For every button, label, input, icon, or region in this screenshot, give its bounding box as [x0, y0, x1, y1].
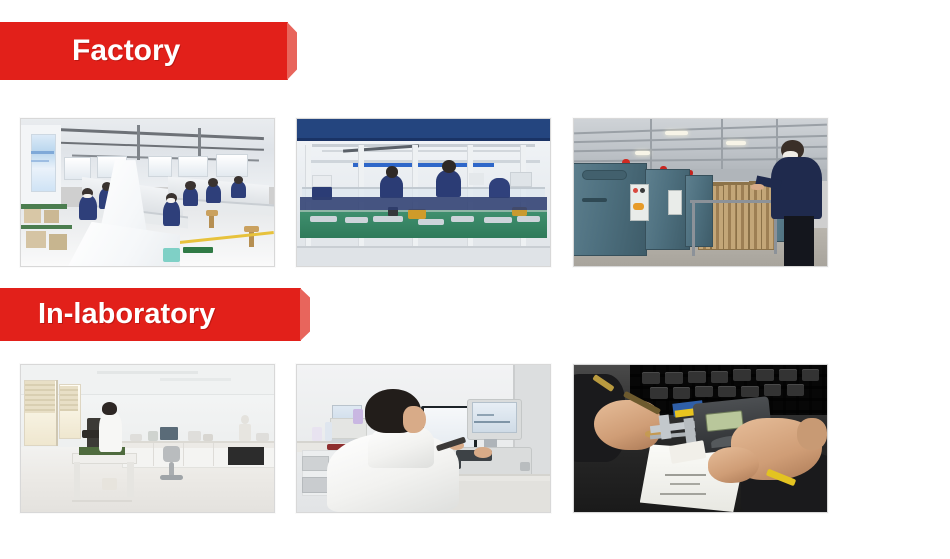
section-banner-in-laboratory: In-laboratory [0, 288, 310, 341]
photo-lab-technician-workstation [296, 364, 551, 513]
section-banner-factory: Factory [0, 22, 297, 80]
section-title-in-laboratory: In-laboratory [38, 298, 215, 331]
photo-canvas [297, 365, 550, 512]
photo-canvas [574, 365, 827, 512]
photo-factory-esd-production-line [296, 118, 551, 267]
photo-lab-testing-room [20, 364, 275, 513]
photo-canvas [297, 119, 550, 266]
photo-factory-assembly-hall [20, 118, 275, 267]
photo-canvas [21, 119, 274, 266]
photo-canvas [21, 365, 274, 512]
page-root: Factory [0, 0, 950, 559]
banner-bevel-edge [287, 22, 297, 80]
photo-lab-caliper-measurement [573, 364, 828, 513]
banner-bevel-edge [300, 288, 310, 341]
photo-factory-curing-ovens [573, 118, 828, 267]
photo-canvas [574, 119, 827, 266]
section-title-factory: Factory [72, 34, 180, 68]
